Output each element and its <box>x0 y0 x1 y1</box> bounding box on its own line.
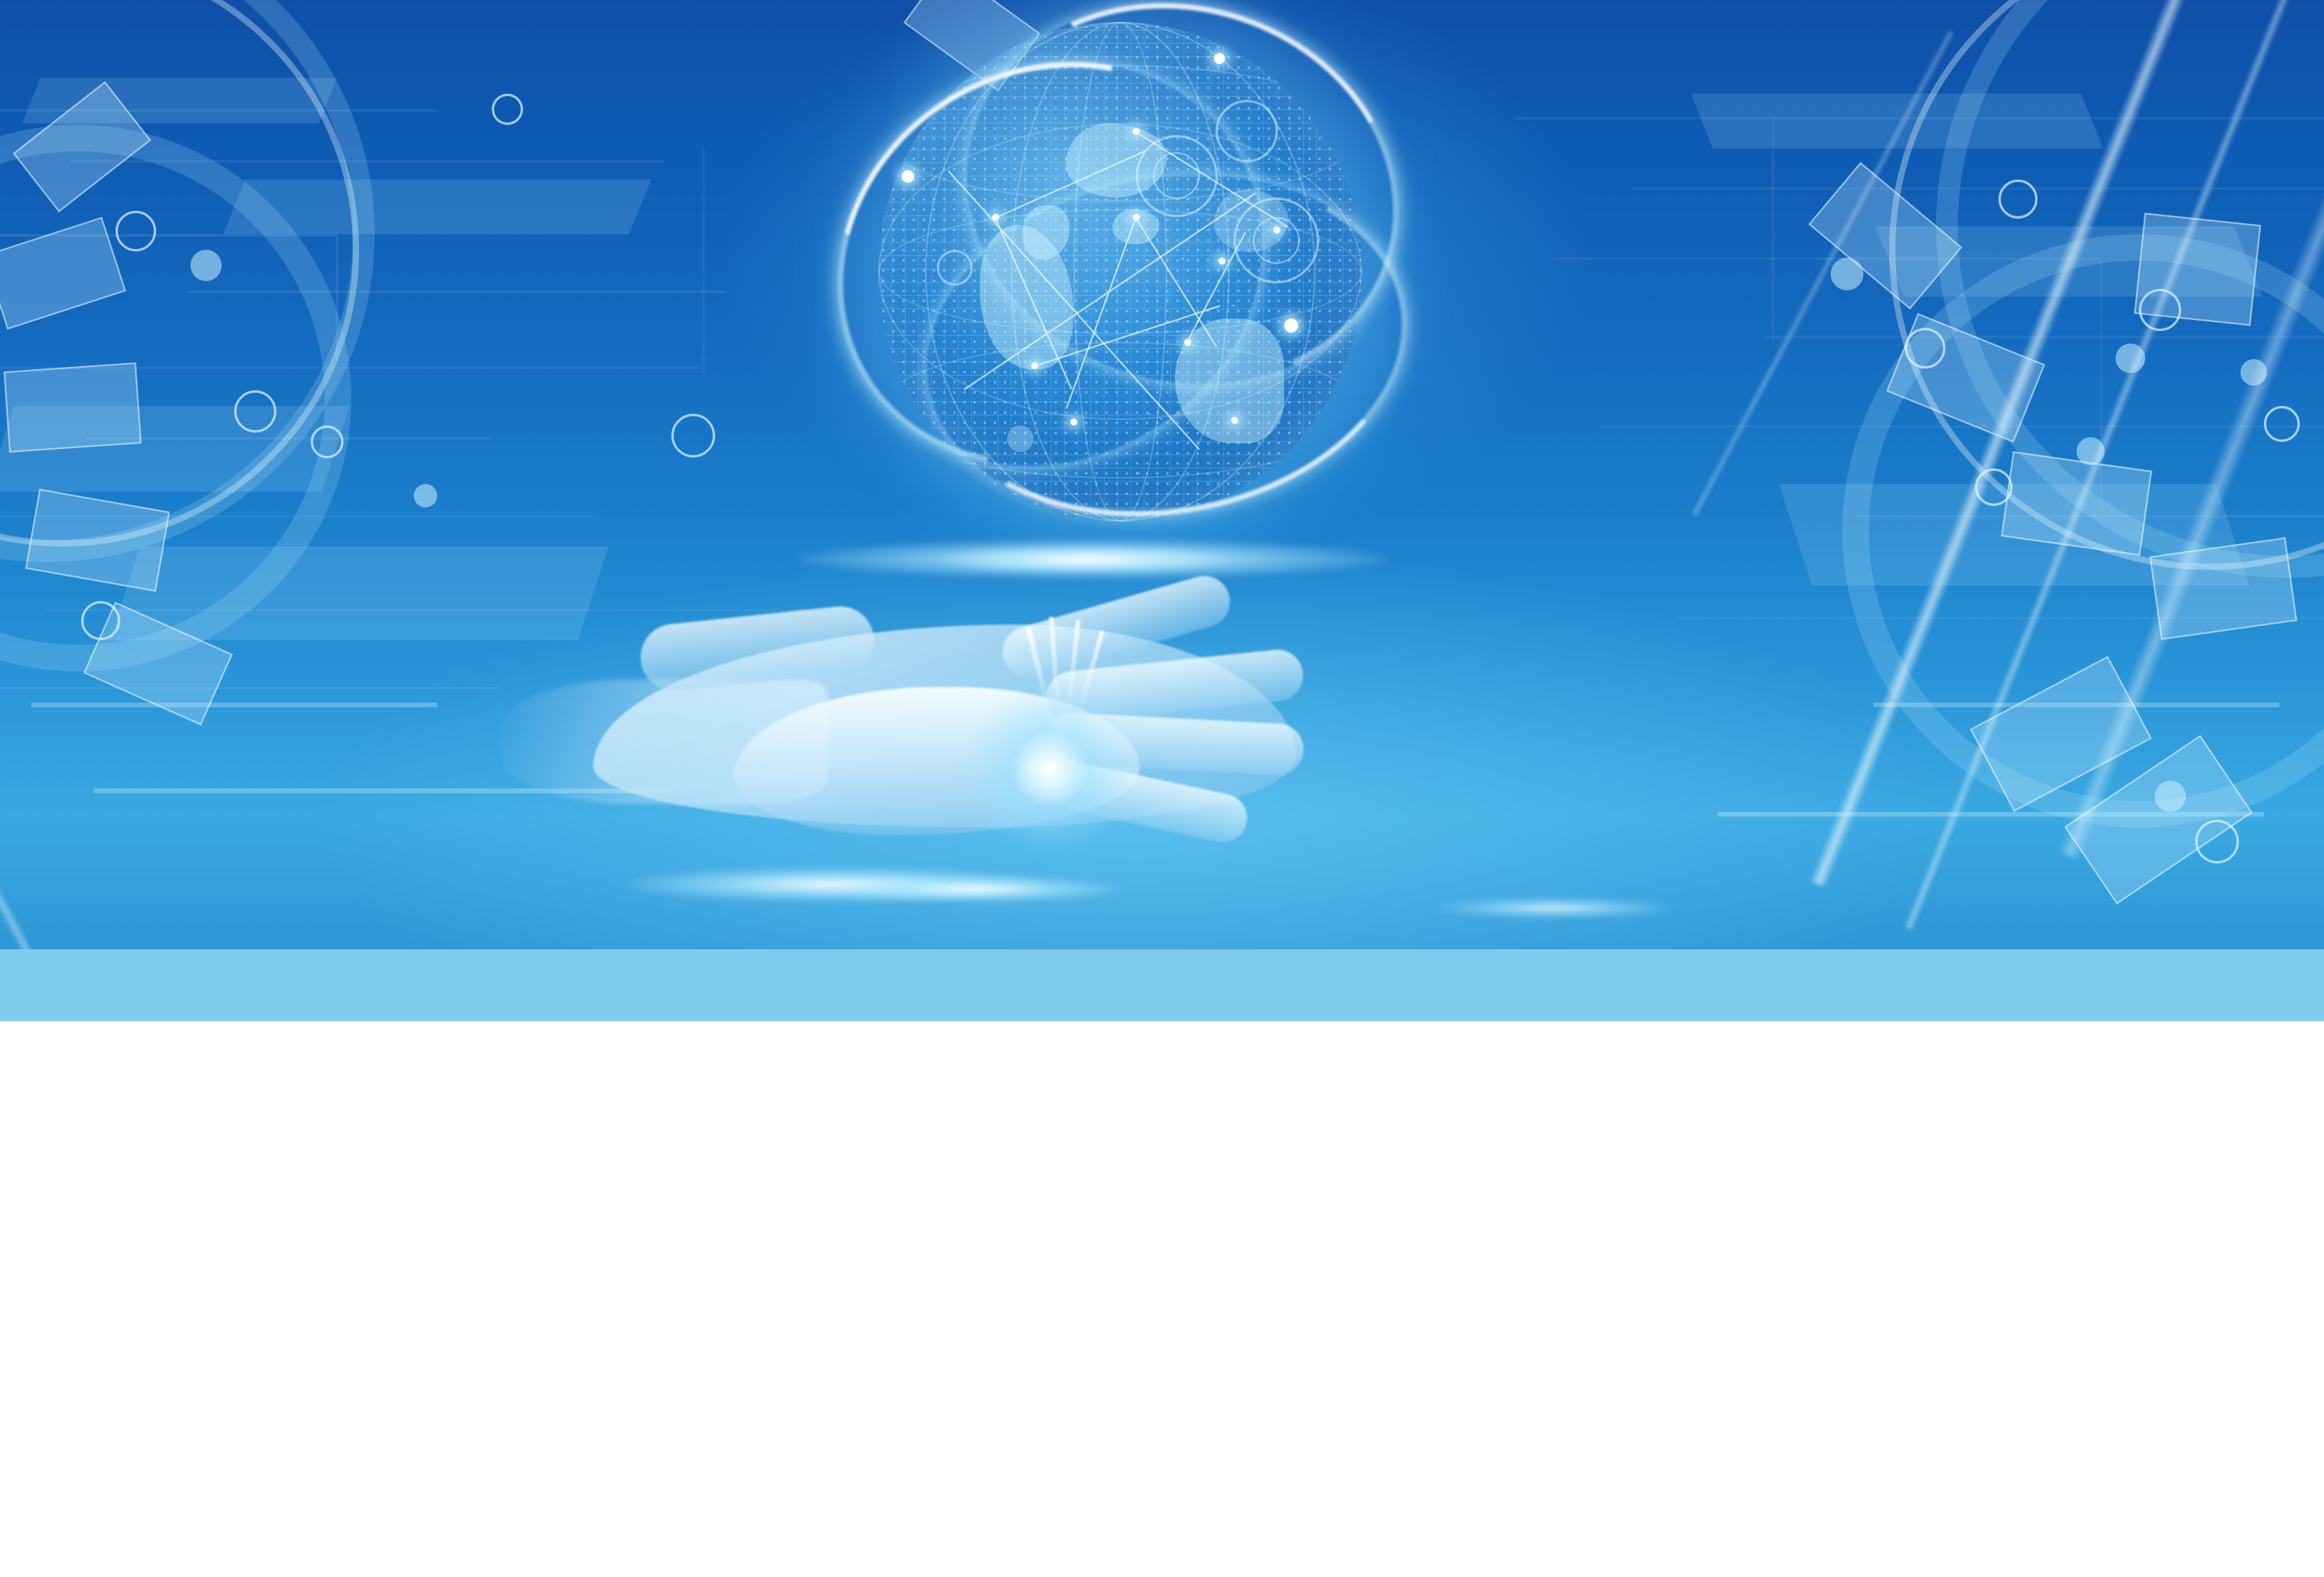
digital-globe <box>878 22 1362 522</box>
light-bar-core <box>937 546 1233 573</box>
accent-band <box>0 949 2324 1021</box>
open-hand <box>500 593 1624 937</box>
lower-content-area: 更加智能、高端、“两化”深度融合的哈电，也代表着哈电集团 加快向产业数字化转型。… <box>0 1021 2324 1577</box>
brochure-page: 更加智能、高端、“两化”深度融合的哈电，也代表着哈电集团 加快向产业数字化转型。… <box>0 0 2324 1577</box>
hero-banner-image <box>0 0 2324 949</box>
